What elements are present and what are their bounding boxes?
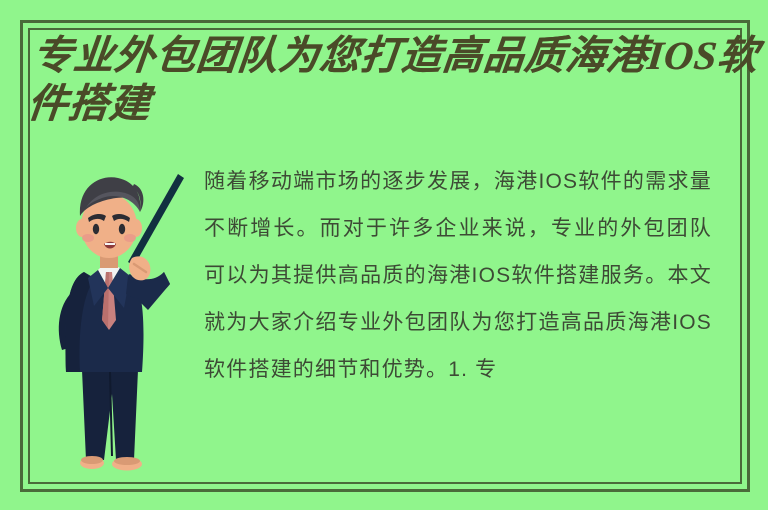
page-title: 专业外包团队为您打造高品质海港IOS软件搭建 [25, 32, 768, 128]
businessman-with-pointer-illustration [42, 160, 202, 480]
article-body-text: 随着移动端市场的逐步发展，海港IOS软件的需求量不断增长。而对于许多企业来说，专… [204, 158, 712, 393]
